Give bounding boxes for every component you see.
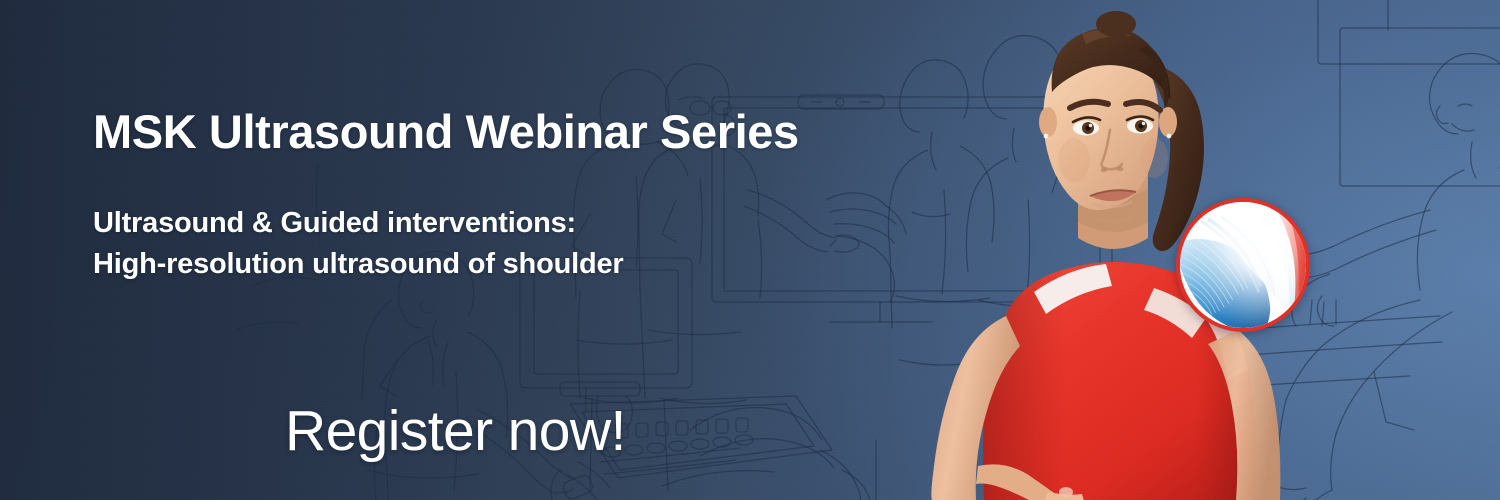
- subtitle-line-2: High-resolution ultrasound of shoulder: [93, 244, 624, 285]
- webinar-promo-banner: MSK Ultrasound Webinar Series Ultrasound…: [0, 0, 1500, 500]
- register-now-cta[interactable]: Register now!: [285, 398, 626, 464]
- banner-subtitle: Ultrasound & Guided interventions: High-…: [93, 203, 624, 285]
- subtitle-line-1: Ultrasound & Guided interventions:: [93, 203, 624, 244]
- page-title: MSK Ultrasound Webinar Series: [93, 104, 799, 159]
- hair-bun: [1096, 11, 1136, 37]
- shoulder-anatomy-magnifier: [1176, 198, 1310, 332]
